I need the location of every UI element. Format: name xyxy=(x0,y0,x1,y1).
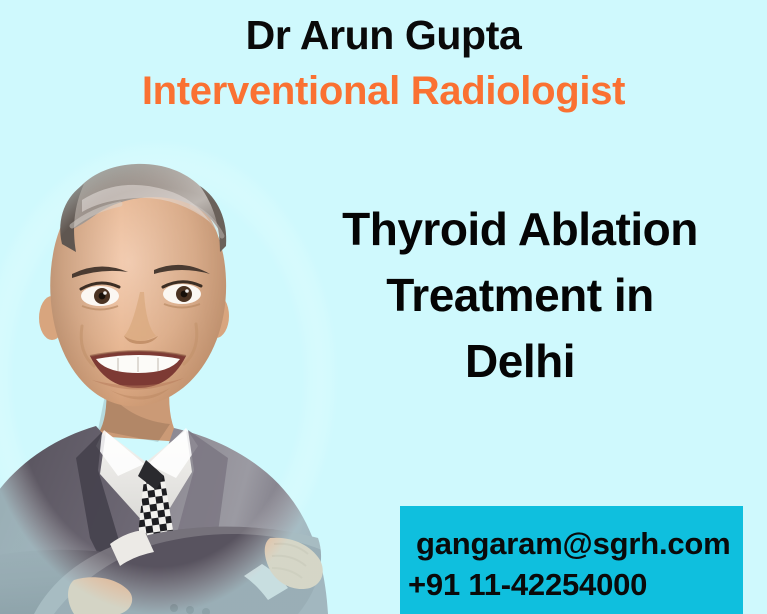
headline-line-3: Delhi xyxy=(290,328,750,394)
doctor-portrait-photo xyxy=(0,140,338,614)
doctor-speciality: Interventional Radiologist xyxy=(0,68,767,114)
poster-canvas: Dr Arun Gupta Interventional Radiologist… xyxy=(0,0,767,614)
portrait-illustration xyxy=(0,140,338,614)
headline-line-2: Treatment in xyxy=(290,262,750,328)
main-headline: Thyroid Ablation Treatment in Delhi xyxy=(290,196,750,395)
contact-details-box: gangaram@sgrh.com +91 11-42254000 xyxy=(400,506,743,614)
doctor-name: Dr Arun Gupta xyxy=(0,12,767,59)
headline-line-1: Thyroid Ablation xyxy=(290,196,750,262)
contact-email[interactable]: gangaram@sgrh.com xyxy=(408,524,743,565)
contact-phone[interactable]: +91 11-42254000 xyxy=(408,565,743,606)
